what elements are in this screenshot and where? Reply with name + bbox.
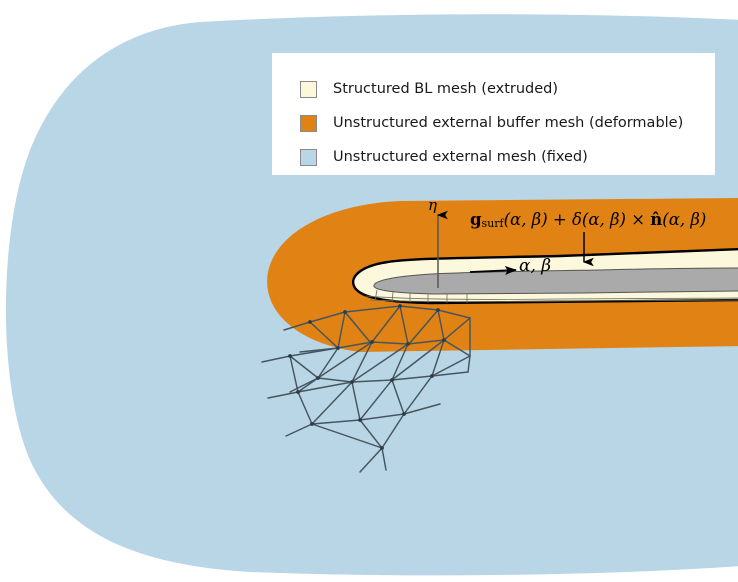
- legend-item-structured-bl-mesh: Structured BL mesh (extruded): [300, 72, 715, 106]
- formula-args-3: (α, β): [662, 210, 706, 229]
- swatch-structured-bl-mesh: [300, 81, 317, 98]
- legend-item-external-mesh: Unstructured external mesh (fixed): [300, 140, 715, 174]
- eta-label: η: [428, 196, 437, 214]
- formula-args-1: (α, β): [504, 210, 548, 229]
- formula-times: ×: [631, 210, 645, 229]
- legend-label-structured-bl-mesh: Structured BL mesh (extruded): [333, 81, 558, 97]
- formula-g: g: [470, 210, 482, 229]
- formula-plus: +: [553, 210, 567, 229]
- legend-box: Structured BL mesh (extruded) Unstructur…: [272, 53, 715, 175]
- alpha-beta-label: α, β: [519, 256, 551, 276]
- swatch-buffer-mesh: [300, 115, 317, 132]
- formula-g-subscript: surf: [482, 217, 504, 230]
- legend-item-buffer-mesh: Unstructured external buffer mesh (defor…: [300, 106, 715, 140]
- formula-n-hat: n̂: [650, 210, 662, 229]
- figure-canvas: Structured BL mesh (extruded) Unstructur…: [0, 0, 738, 582]
- swatch-external-mesh: [300, 149, 317, 166]
- formula-args-2: (α, β): [582, 210, 626, 229]
- formula-delta: δ: [572, 210, 582, 229]
- legend-label-buffer-mesh: Unstructured external buffer mesh (defor…: [333, 115, 683, 131]
- surface-displacement-formula: gsurf(α, β) + δ(α, β) × n̂(α, β): [470, 210, 706, 230]
- legend-label-external-mesh: Unstructured external mesh (fixed): [333, 149, 588, 165]
